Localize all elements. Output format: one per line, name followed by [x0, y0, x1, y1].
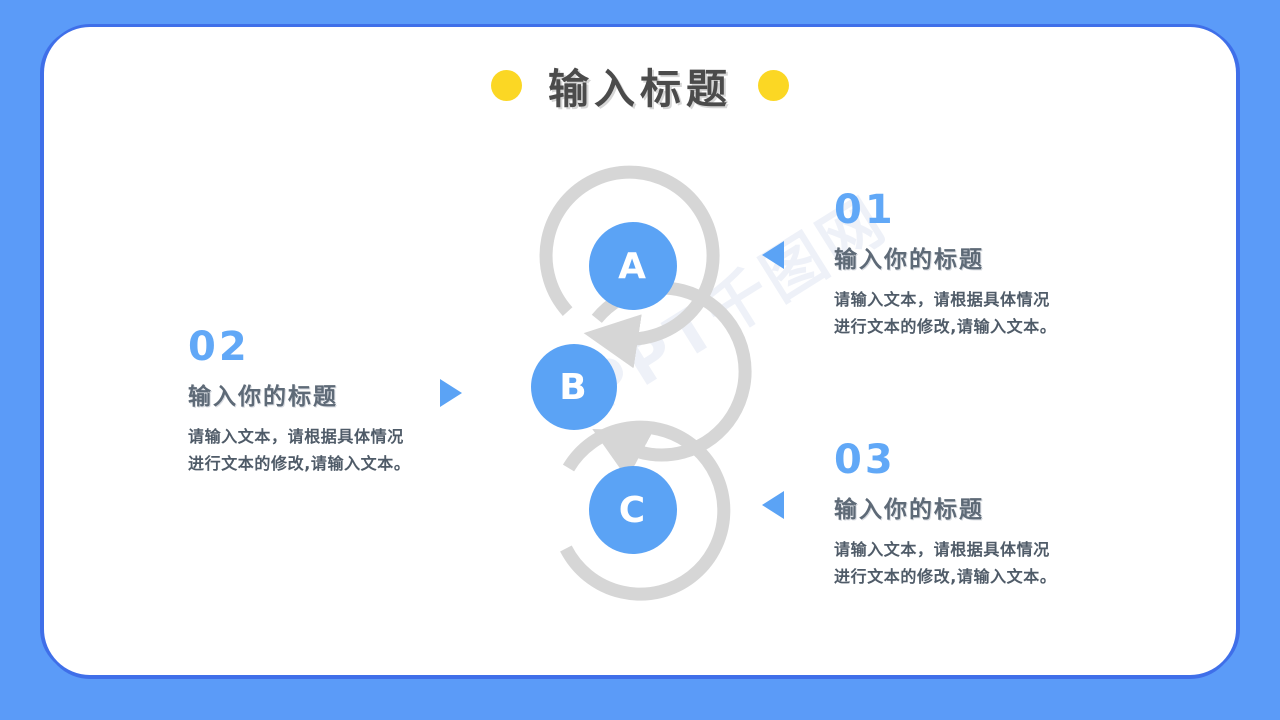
block-number-02: 02: [188, 327, 410, 367]
slide-canvas: 输入标题 PPT千图网 A: [0, 0, 1280, 720]
triangle-right-icon-02: [440, 379, 462, 407]
block-body-line2-02: 进行文本的修改,请输入文本。: [188, 450, 410, 478]
title-dot-left-icon: [491, 70, 522, 101]
triangle-left-icon-01: [762, 241, 784, 269]
node-circle-b[interactable]: B: [531, 344, 617, 430]
block-number-03: 03: [834, 440, 1056, 480]
block-heading-02: 输入你的标题: [188, 383, 410, 413]
block-body-line1-03: 请输入文本，请根据具体情况: [834, 536, 1056, 564]
block-body-line1-02: 请输入文本，请根据具体情况: [188, 423, 410, 451]
block-body-line2-01: 进行文本的修改,请输入文本。: [834, 313, 1056, 341]
slide-content-card: 输入标题 PPT千图网 A: [44, 27, 1236, 675]
node-label-a: A: [618, 246, 648, 287]
content-block-02[interactable]: 02 输入你的标题 请输入文本，请根据具体情况 进行文本的修改,请输入文本。: [188, 327, 410, 478]
title-dot-right-icon: [758, 70, 789, 101]
content-block-03[interactable]: 03 输入你的标题 请输入文本，请根据具体情况 进行文本的修改,请输入文本。: [834, 440, 1056, 591]
node-label-c: C: [619, 490, 647, 531]
block-heading-01: 输入你的标题: [834, 246, 1056, 276]
page-title: 输入标题: [548, 55, 732, 115]
arc-ring-b: [597, 288, 745, 455]
block-body-line2-03: 进行文本的修改,请输入文本。: [834, 563, 1056, 591]
block-number-01: 01: [834, 190, 1056, 230]
node-label-b: B: [559, 367, 588, 408]
slide-title-row: 输入标题: [44, 55, 1236, 115]
triangle-left-icon-03: [762, 491, 784, 519]
content-block-01[interactable]: 01 输入你的标题 请输入文本，请根据具体情况 进行文本的修改,请输入文本。: [834, 190, 1056, 341]
block-heading-03: 输入你的标题: [834, 496, 1056, 526]
node-circle-c[interactable]: C: [589, 466, 677, 554]
block-body-line1-01: 请输入文本，请根据具体情况: [834, 286, 1056, 314]
node-circle-a[interactable]: A: [589, 222, 677, 310]
